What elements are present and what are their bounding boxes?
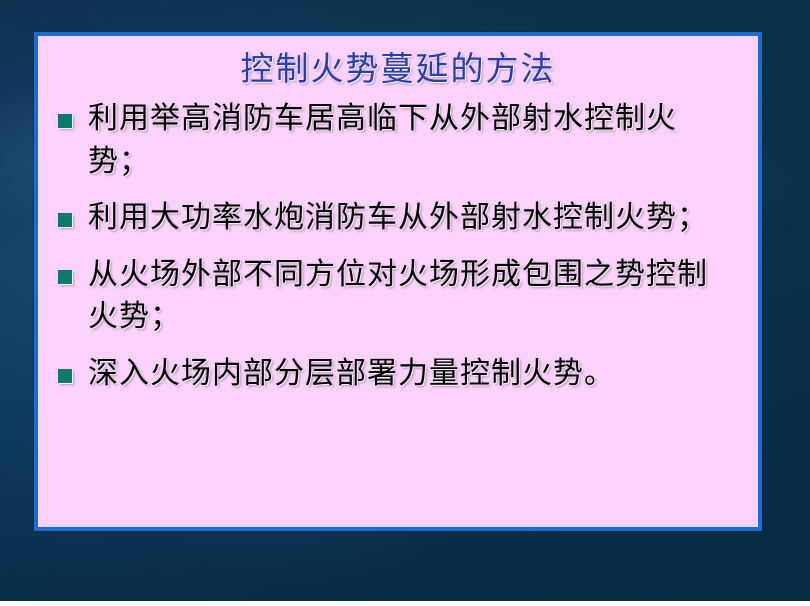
list-item-text: 从火场外部不同方位对火场形成包围之势控制火势； <box>88 254 736 339</box>
list-item: 利用大功率水炮消防车从外部射水控制火势； <box>52 197 736 240</box>
content-panel: 控制火势蔓延的方法 利用举高消防车居高临下从外部射水控制火势； 利用大功率水炮消… <box>34 32 762 531</box>
list-item-text: 利用举高消防车居高临下从外部射水控制火势； <box>88 98 736 183</box>
list-item-text: 深入火场内部分层部署力量控制火势。 <box>88 353 736 396</box>
list-item: 深入火场内部分层部署力量控制火势。 <box>52 353 736 396</box>
square-bullet-icon <box>58 114 72 128</box>
list-item-text: 利用大功率水炮消防车从外部射水控制火势； <box>88 197 736 240</box>
list-item: 利用举高消防车居高临下从外部射水控制火势； <box>52 98 736 183</box>
square-bullet-icon <box>58 270 72 284</box>
square-bullet-icon <box>58 213 72 227</box>
presentation-slide: 控制火势蔓延的方法 利用举高消防车居高临下从外部射水控制火势； 利用大功率水炮消… <box>0 0 810 601</box>
bullet-list: 利用举高消防车居高临下从外部射水控制火势； 利用大功率水炮消防车从外部射水控制火… <box>38 92 758 396</box>
square-bullet-icon <box>58 369 72 383</box>
list-item: 从火场外部不同方位对火场形成包围之势控制火势； <box>52 254 736 339</box>
slide-title: 控制火势蔓延的方法 <box>38 36 758 92</box>
bottom-white-strip <box>0 601 810 606</box>
